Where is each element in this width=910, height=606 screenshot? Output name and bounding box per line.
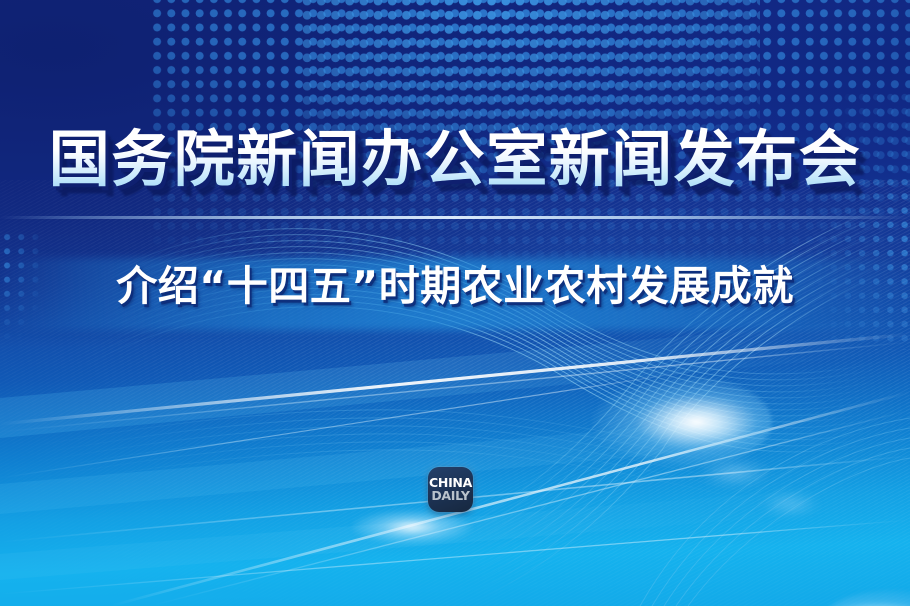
page-title: 国务院新闻办公室新闻发布会 (49, 126, 862, 194)
china-daily-logo[interactable]: CHINA DAILY (428, 467, 473, 512)
diagonal-hatch-texture (0, 180, 910, 606)
title-divider-line (0, 216, 910, 219)
main-title-container: 国务院新闻办公室新闻发布会 (0, 126, 910, 194)
page-subtitle: 介绍“十四五”时期农业农村发展成就 (116, 262, 793, 311)
press-conference-poster: 国务院新闻办公室新闻发布会 介绍“十四五”时期农业农村发展成就 CHINA DA… (0, 0, 910, 606)
sub-title-container: 介绍“十四五”时期农业农村发展成就 (0, 262, 910, 311)
logo-text-daily: DAILY (431, 490, 469, 503)
